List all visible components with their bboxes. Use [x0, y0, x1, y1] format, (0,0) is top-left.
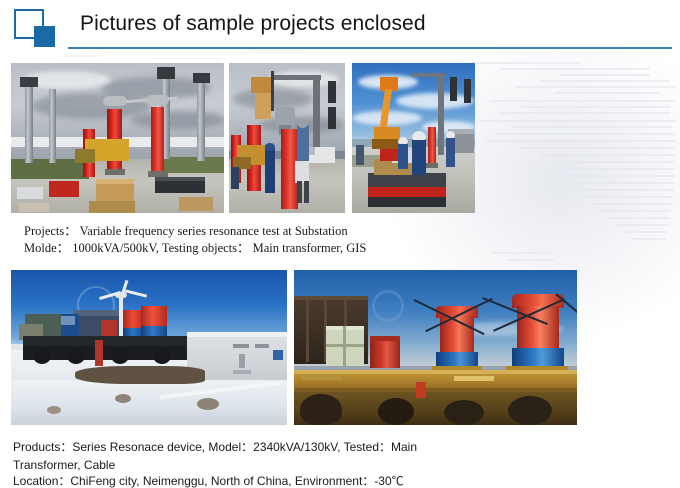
title-divider: [68, 47, 672, 49]
photo-boom-lift-crew: [352, 63, 475, 213]
photo-substation-resonance-test: [11, 63, 224, 213]
bottom-caption-line-1: Products：Series Resonace device, Model：2…: [13, 438, 417, 456]
top-caption-line-1: Projects： Variable frequency series reso…: [24, 223, 348, 240]
slide-canvas: Pictures of sample projects enclosed: [0, 0, 680, 488]
page-title: Pictures of sample projects enclosed: [80, 12, 426, 36]
company-logo: [14, 9, 66, 49]
photo-reactors-on-trailer: [294, 270, 577, 425]
slide-header: Pictures of sample projects enclosed: [0, 0, 680, 56]
bottom-caption-line-3: Location：ChiFeng city, Neimenggu, North …: [13, 472, 404, 488]
photo-workers-red-columns: [229, 63, 345, 213]
logo-filled-square: [34, 26, 55, 47]
photo-winter-site-wind-turbine: [11, 270, 287, 425]
top-caption-line-2: Molde： 1000kVA/500kV, Testing objects： M…: [24, 240, 366, 257]
